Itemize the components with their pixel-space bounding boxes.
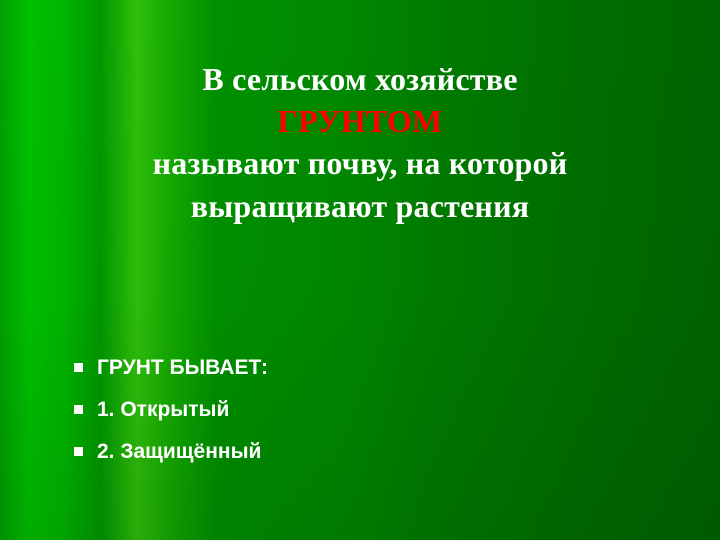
slide-canvas: В сельском хозяйстве ГРУНТОМ называют по… xyxy=(0,0,720,540)
title-line-3: называют почву, на которой xyxy=(52,142,668,184)
list-item-label: 1. Открытый xyxy=(97,398,229,422)
list-item: 1. Открытый xyxy=(74,398,654,422)
list-item: ГРУНТ БЫВАЕТ: xyxy=(74,356,654,380)
slide-title: В сельском хозяйстве ГРУНТОМ называют по… xyxy=(52,58,668,227)
title-line-1: В сельском хозяйстве xyxy=(52,58,668,100)
slide-body: ГРУНТ БЫВАЕТ: 1. Открытый 2. Защищённый xyxy=(74,356,654,482)
square-bullet-icon xyxy=(74,447,83,456)
list-item: 2. Защищённый xyxy=(74,440,654,464)
list-item-label: 2. Защищённый xyxy=(97,440,261,464)
title-line-2-accent: ГРУНТОМ xyxy=(52,100,668,142)
square-bullet-icon xyxy=(74,405,83,414)
list-item-label: ГРУНТ БЫВАЕТ: xyxy=(97,356,268,380)
title-line-4: выращивают растения xyxy=(52,185,668,227)
square-bullet-icon xyxy=(74,363,83,372)
